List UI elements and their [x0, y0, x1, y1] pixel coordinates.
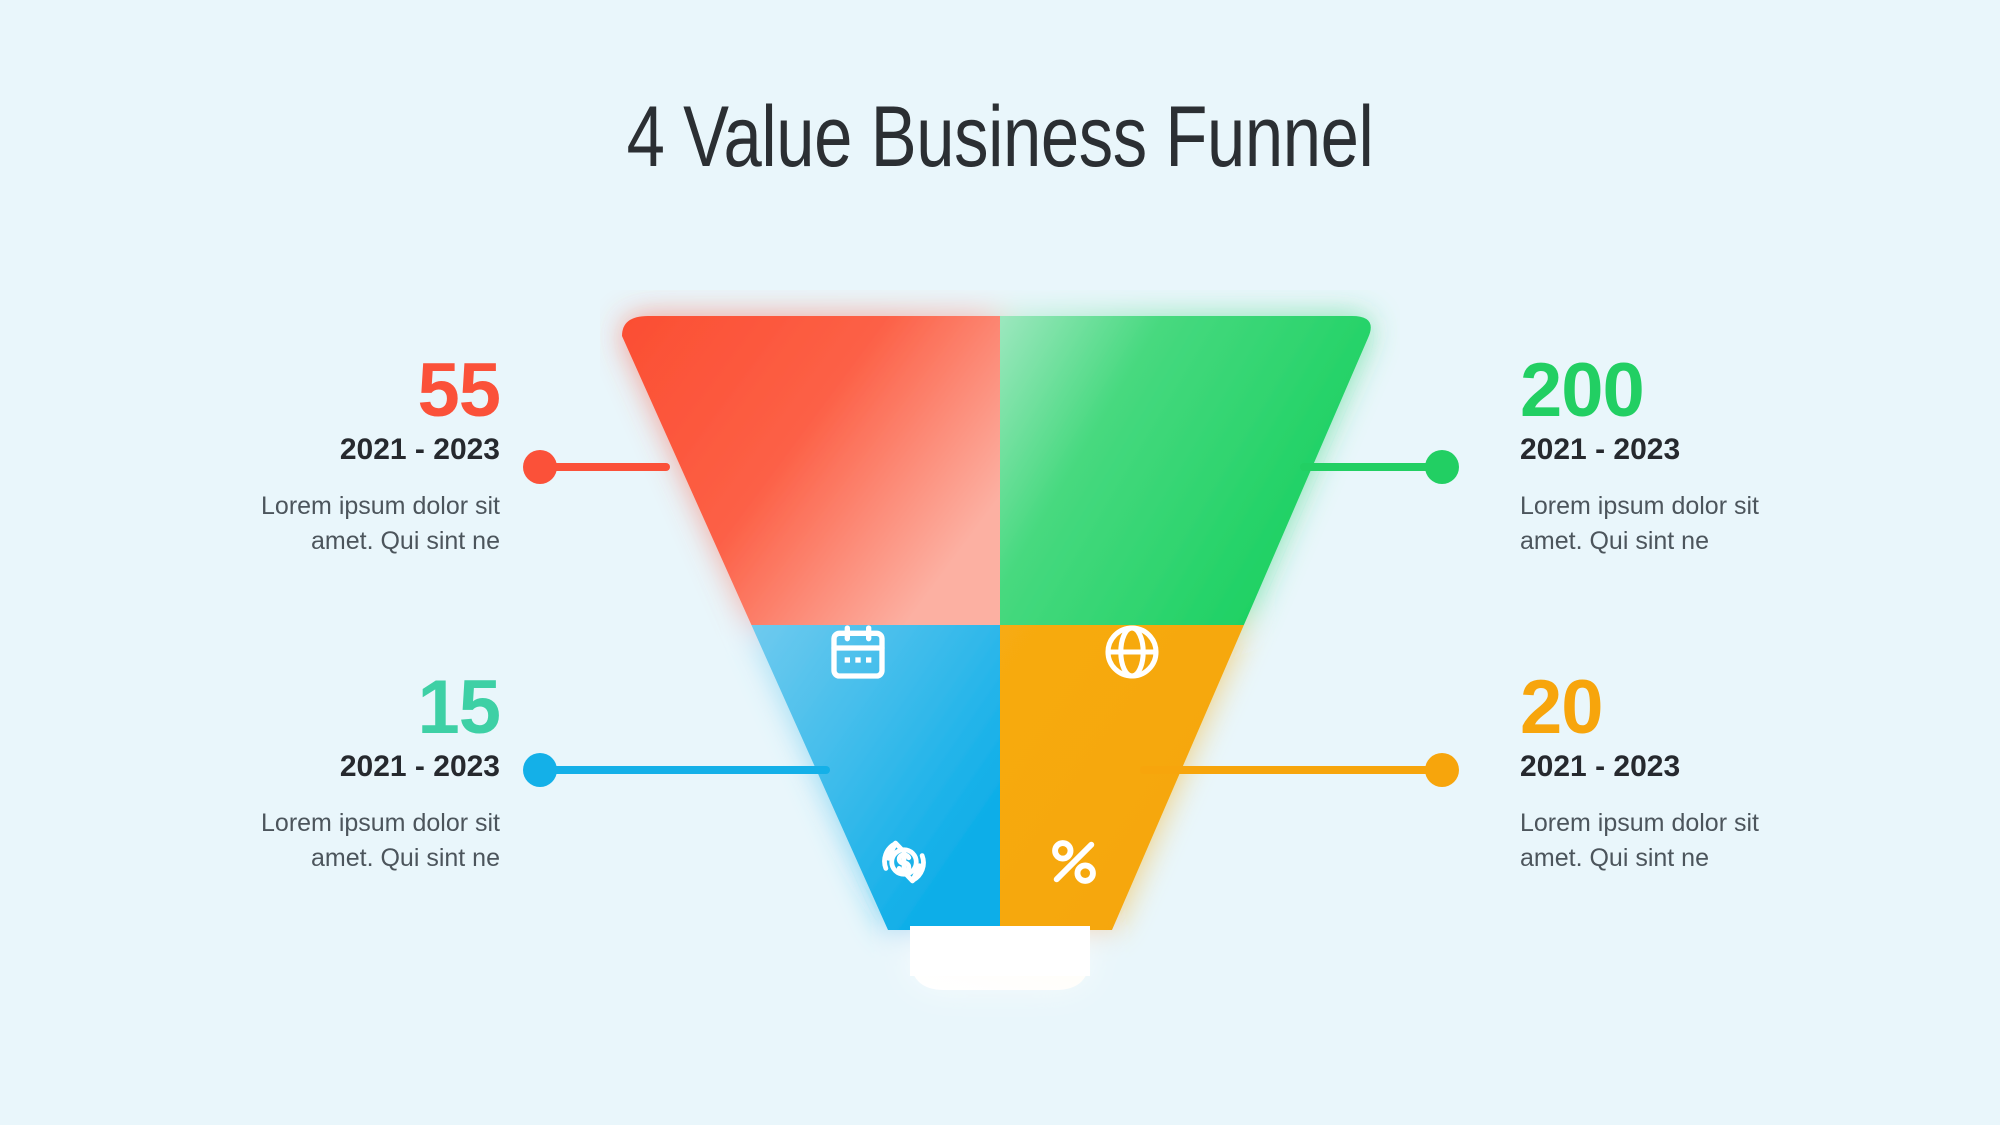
stat-period-3: 2021 - 2023 — [80, 750, 500, 784]
stat-description-2: Lorem ipsum dolor sit amet. Qui sint ne — [1520, 489, 1820, 558]
stat-period-4: 2021 - 2023 — [1520, 750, 1940, 784]
funnel-segment-bottom-right — [1000, 625, 1400, 945]
stat-block-1[interactable]: 55 2021 - 2023 Lorem ipsum dolor sit ame… — [80, 355, 500, 558]
connector-line-2 — [1300, 463, 1440, 471]
connector-dot-3[interactable] — [523, 753, 557, 787]
page-title: 4 Value Business Funnel — [200, 88, 1800, 187]
globe-icon — [1100, 620, 1164, 684]
stat-block-2[interactable]: 200 2021 - 2023 Lorem ipsum dolor sit am… — [1520, 355, 1940, 558]
connector-dot-4[interactable] — [1425, 753, 1459, 787]
funnel-svg — [600, 290, 1400, 1020]
funnel-segment-top-right — [1000, 290, 1400, 625]
stat-value-3: 15 — [80, 672, 500, 744]
stat-period-2: 2021 - 2023 — [1520, 433, 1940, 467]
stat-description-4: Lorem ipsum dolor sit amet. Qui sint ne — [1520, 806, 1820, 875]
stat-value-4: 20 — [1520, 672, 1940, 744]
connector-line-3 — [540, 766, 830, 774]
funnel-segment-top-left — [600, 290, 1000, 625]
stat-description-1: Lorem ipsum dolor sit amet. Qui sint ne — [200, 489, 500, 558]
stat-value-2: 200 — [1520, 355, 1940, 427]
connector-line-1 — [540, 463, 670, 471]
connector-line-4 — [1140, 766, 1440, 774]
stat-block-3[interactable]: 15 2021 - 2023 Lorem ipsum dolor sit ame… — [80, 672, 500, 875]
stat-value-1: 55 — [80, 355, 500, 427]
stat-block-4[interactable]: 20 2021 - 2023 Lorem ipsum dolor sit ame… — [1520, 672, 1940, 875]
money-refresh-icon — [872, 830, 936, 894]
infographic-canvas: 4 Value Business Funnel — [0, 0, 2000, 1125]
funnel-graphic — [600, 290, 1400, 1020]
funnel-body-group — [600, 290, 1400, 990]
funnel-segment-bottom-left — [600, 625, 1000, 945]
connector-dot-2[interactable] — [1425, 450, 1459, 484]
stat-description-3: Lorem ipsum dolor sit amet. Qui sint ne — [200, 806, 500, 875]
stat-period-1: 2021 - 2023 — [80, 433, 500, 467]
connector-dot-1[interactable] — [523, 450, 557, 484]
calendar-icon — [826, 620, 890, 684]
funnel-spout-body — [910, 926, 1090, 976]
percent-icon — [1042, 830, 1106, 894]
